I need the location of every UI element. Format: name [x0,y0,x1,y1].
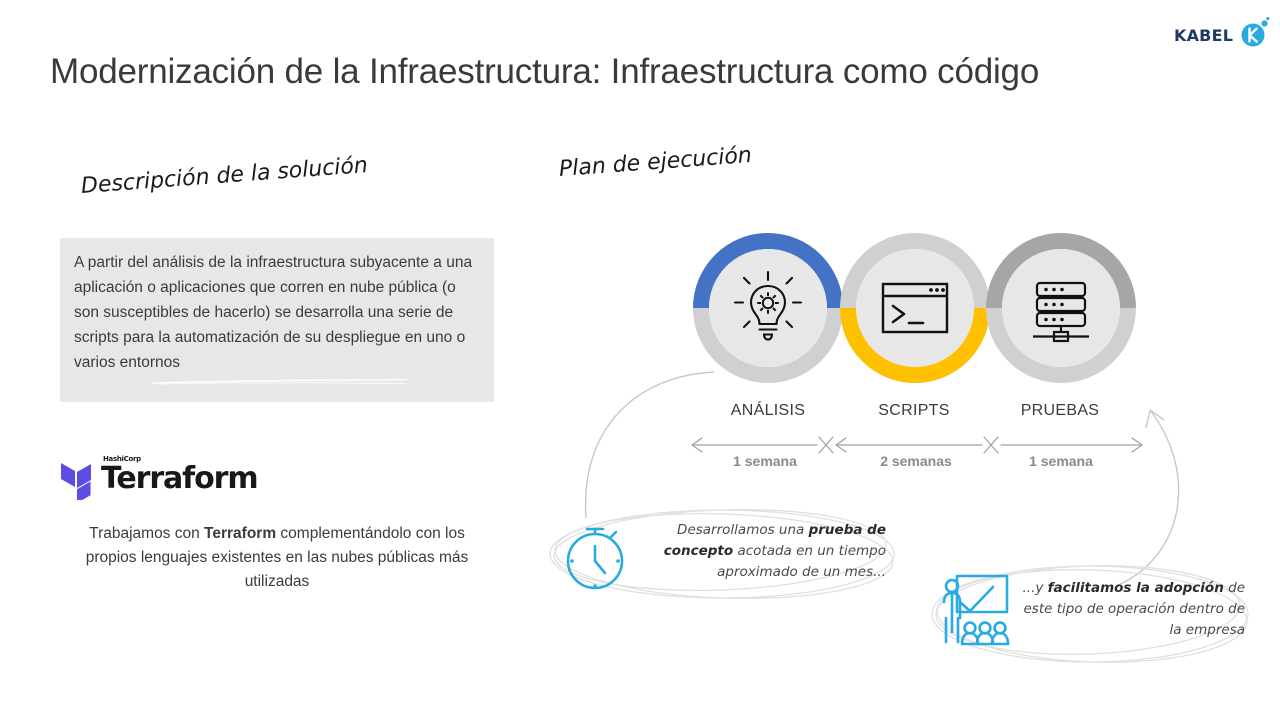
terraform-wordmark: Terraform [101,461,257,496]
process-step-scripts[interactable] [840,233,990,383]
process-step-analisis[interactable] [693,233,843,383]
solution-description-text: A partir del análisis de la infraestruct… [74,250,480,375]
step-duration-analisis: 1 semana [685,453,845,469]
callout-2-text-bold: facilitamos la adopción [1048,580,1224,596]
callout-2-text-part1: ...y [1022,580,1047,596]
solution-description-panel: A partir del análisis de la infraestruct… [60,238,494,402]
kabel-logo: KABEL [1174,10,1270,50]
solution-heading: Descripción de la solución [80,153,368,199]
slide-canvas: KABEL Modernización de la Infraestructur… [0,0,1280,720]
step-label-analisis: ANÁLISIS [688,402,848,420]
kabel-k-bubble-icon [1238,16,1270,48]
stopwatch-icon [560,516,630,596]
kabel-wordmark: KABEL [1174,26,1233,45]
step-duration-scripts: 2 semanas [836,453,996,469]
callout-1-text-part2: acotada en un tiempo aproximado de un me… [717,543,886,580]
training-presentation-icon [937,570,1015,656]
step-duration-pruebas: 1 semana [981,453,1141,469]
lightbulb-gear-icon [728,268,808,348]
server-rack-icon [1021,268,1101,348]
page-title: Modernización de la Infraestructura: Inf… [50,52,1210,92]
terraform-caption: Trabajamos con Terraform complementándol… [62,522,492,594]
step-label-scripts: SCRIPTS [834,402,994,420]
process-step-pruebas[interactable] [986,233,1136,383]
callout-2-text: ...y facilitamos la adopción de este tip… [1013,578,1245,641]
terraform-caption-bold: Terraform [204,525,276,542]
callout-1-text-part1: Desarrollamos una [677,522,809,538]
step-label-pruebas: PRUEBAS [980,402,1140,420]
plan-heading: Plan de ejecución [558,143,752,182]
terraform-caption-prefix: Trabajamos con [89,525,204,542]
callout-adopcion: ...y facilitamos la adopción de este tip… [925,552,1255,674]
terminal-console-icon [875,268,955,348]
callout-1-text: Desarrollamos una prueba de concepto aco… [630,520,886,583]
callout-prueba-concepto: Desarrollamos una prueba de concepto aco… [542,498,902,608]
